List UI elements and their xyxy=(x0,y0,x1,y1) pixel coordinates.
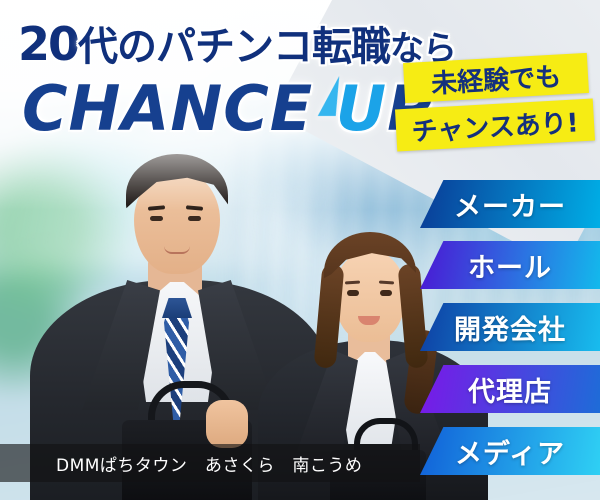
credit-text: DMMぱちタウン あさくら 南こうめ xyxy=(56,451,362,476)
logo-word-chance: CHANCE xyxy=(22,72,313,145)
businesswoman-eye-right xyxy=(380,290,392,296)
logo-letter-u: U xyxy=(336,72,387,145)
category-label-developer: 開発会社 xyxy=(454,308,566,347)
headline-main: 代のパチンコ転職 xyxy=(78,24,390,70)
headline-text: 20代のパチンコ転職なら xyxy=(18,14,456,72)
category-button-media[interactable]: メディア xyxy=(420,427,600,475)
category-button-agency[interactable]: 代理店 xyxy=(420,365,600,413)
businessman-mouth xyxy=(164,246,190,254)
businessman-hand xyxy=(206,400,248,448)
credit-bar: DMMぱちタウン あさくら 南こうめ xyxy=(0,444,420,482)
businessman-eye-left xyxy=(150,216,163,221)
businesswoman-face xyxy=(334,250,406,342)
category-label-agency: 代理店 xyxy=(468,370,552,409)
category-button-developer[interactable]: 開発会社 xyxy=(420,303,600,351)
category-label-hall: ホール xyxy=(468,246,552,285)
category-label-media: メディア xyxy=(455,432,565,471)
category-button-hall[interactable]: ホール xyxy=(420,241,600,289)
headline-age-number: 20 xyxy=(18,17,78,71)
chance-up-logo: CHANCE UP xyxy=(22,72,434,145)
advertisement-banner[interactable]: 20代のパチンコ転職なら CHANCE UP 未経験でも チャンスあり! メーカ… xyxy=(0,0,600,500)
category-label-maker: メーカー xyxy=(454,185,566,224)
category-button-maker[interactable]: メーカー xyxy=(420,180,600,228)
businesswoman-eye-left xyxy=(347,290,359,296)
businessman-eye-right xyxy=(188,216,201,221)
